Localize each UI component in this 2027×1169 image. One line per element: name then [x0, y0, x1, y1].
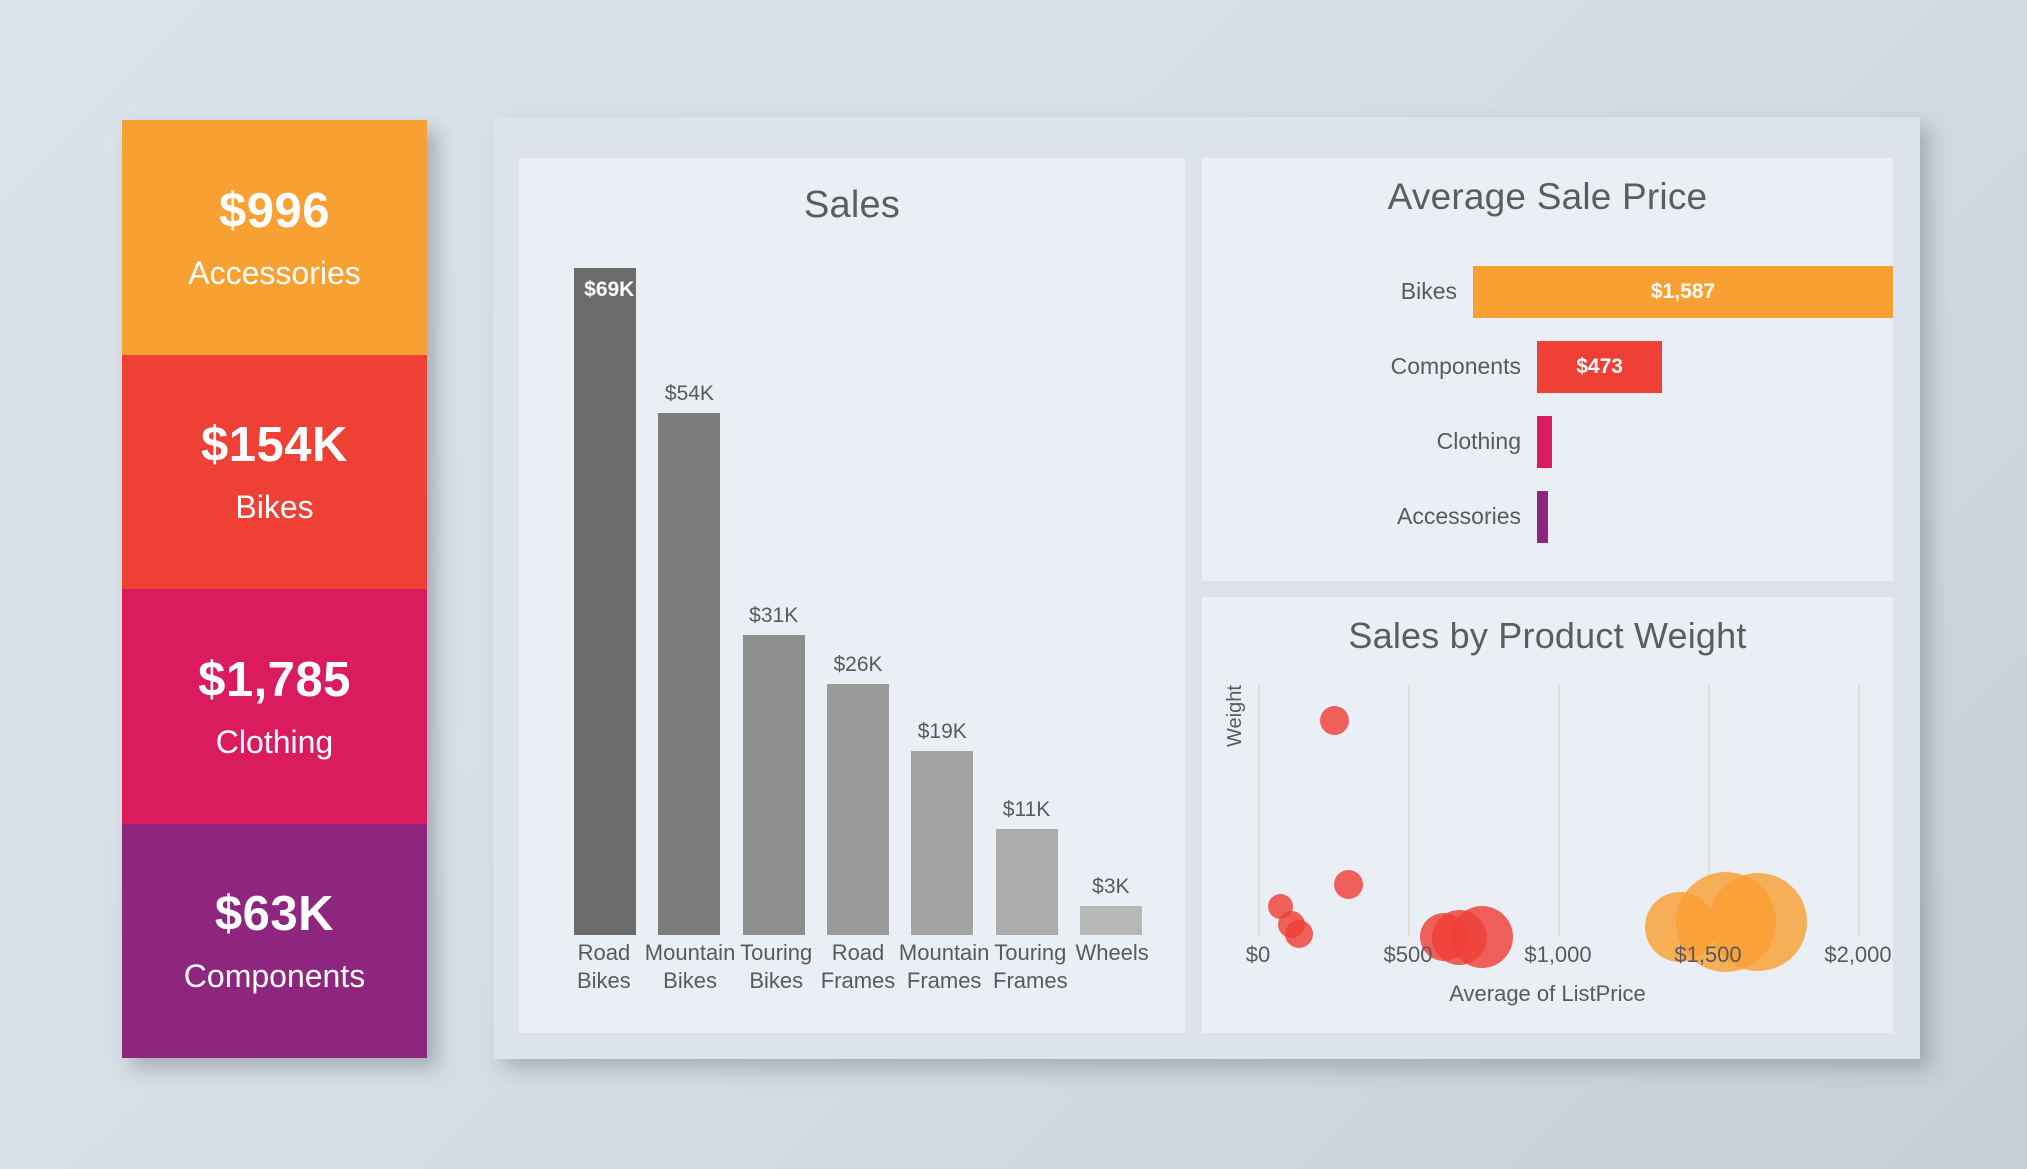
sales-bar[interactable]: $3K: [1080, 906, 1142, 935]
kpi-value: $1,785: [198, 655, 351, 706]
sales-bar-slot: $11K: [984, 268, 1068, 935]
gridline: [1408, 685, 1410, 937]
kpi-value: $996: [219, 186, 330, 237]
sales-bar-slot: $69K: [563, 268, 647, 935]
sales-plot-area: $69K$54K$31K$26K$19K$11K$3K: [563, 268, 1153, 935]
sales-bar[interactable]: $26K: [827, 684, 889, 935]
charts-panel: Sales $69K$54K$31K$26K$19K$11K$3K RoadBi…: [493, 117, 1920, 1059]
avg-price-bar[interactable]: $1,587: [1473, 266, 1893, 318]
sales-x-tick-label: MountainBikes: [645, 939, 736, 1009]
sales-bar-slot: $54K: [647, 268, 731, 935]
sales-bar[interactable]: $11K: [996, 829, 1058, 935]
weight-x-tick-label: $2,000: [1824, 942, 1891, 968]
weight-x-tick-label: $500: [1384, 942, 1433, 968]
weight-x-tick-label: $0: [1246, 942, 1270, 968]
weight-x-axis-label: Average of ListPrice: [1202, 981, 1893, 1007]
sales-bar-value-label: $19K: [918, 720, 967, 744]
avg-price-row: Accessories: [1202, 479, 1893, 554]
sales-bar[interactable]: $31K: [743, 635, 805, 935]
kpi-value: $154K: [201, 420, 348, 471]
sales-bar-slot: $26K: [816, 268, 900, 935]
avg-price-row: Components$473: [1202, 329, 1893, 404]
average-sale-price-card[interactable]: Average Sale Price Bikes$1,587Components…: [1202, 158, 1893, 581]
kpi-card-accessories[interactable]: $996Accessories: [122, 120, 427, 355]
sales-bar-value-label: $11K: [1003, 798, 1051, 822]
weight-x-tick-label: $1,000: [1524, 942, 1591, 968]
sales-x-tick-label: Wheels: [1071, 939, 1153, 1009]
kpi-value: $63K: [215, 889, 334, 940]
sales-bar[interactable]: $69K: [574, 268, 636, 935]
kpi-panel: $996Accessories$154KBikes$1,785Clothing$…: [122, 120, 427, 1058]
kpi-label: Accessories: [188, 257, 361, 289]
kpi-label: Clothing: [216, 726, 333, 758]
sales-bar[interactable]: $54K: [658, 413, 720, 935]
sales-bar-value-label: $69K: [584, 278, 634, 302]
sales-x-tick-label: RoadBikes: [563, 939, 645, 1009]
dashboard-root: $996Accessories$154KBikes$1,785Clothing$…: [0, 0, 2027, 1169]
sales-chart-title: Sales: [519, 158, 1185, 227]
sales-bar-value-label: $26K: [833, 653, 882, 677]
sales-by-product-weight-title: Sales by Product Weight: [1202, 597, 1893, 657]
avg-price-bar[interactable]: $473: [1537, 341, 1662, 393]
avg-price-category-label: Components: [1202, 353, 1537, 380]
sales-bar-value-label: $54K: [665, 382, 714, 406]
average-sale-price-plot: Bikes$1,587Components$473ClothingAccesso…: [1202, 254, 1893, 554]
sales-x-tick-label: TouringFrames: [989, 939, 1071, 1009]
sales-bar-value-label: $3K: [1092, 875, 1129, 899]
scatter-bubble[interactable]: [1334, 870, 1363, 899]
gridline: [1258, 685, 1260, 937]
avg-price-bar-track: $1,587: [1473, 254, 1893, 329]
gridline: [1858, 685, 1860, 937]
avg-price-bar-track: $473: [1537, 329, 1893, 404]
kpi-card-clothing[interactable]: $1,785Clothing: [122, 589, 427, 824]
avg-price-bar[interactable]: [1537, 491, 1548, 543]
sales-x-tick-label: RoadFrames: [817, 939, 899, 1009]
sales-chart-card[interactable]: Sales $69K$54K$31K$26K$19K$11K$3K RoadBi…: [519, 158, 1185, 1033]
weight-x-tick-label: $1,500: [1674, 942, 1741, 968]
kpi-card-components[interactable]: $63KComponents: [122, 824, 427, 1059]
sales-bar-slot: $19K: [900, 268, 984, 935]
weight-plot-area: [1258, 685, 1858, 937]
sales-by-product-weight-card[interactable]: Sales by Product Weight Weight $0$500$1,…: [1202, 597, 1893, 1033]
scatter-bubble[interactable]: [1320, 706, 1349, 735]
avg-price-category-label: Clothing: [1202, 428, 1537, 455]
avg-price-bar[interactable]: [1537, 416, 1552, 468]
sales-bar-slot: $31K: [732, 268, 816, 935]
gridline: [1558, 685, 1560, 937]
avg-price-category-label: Accessories: [1202, 503, 1537, 530]
sales-bar-value-label: $31K: [749, 604, 798, 628]
sales-x-tick-label: TouringBikes: [735, 939, 817, 1009]
sales-bar-slot: $3K: [1069, 268, 1153, 935]
avg-price-bar-track: [1537, 404, 1893, 479]
avg-price-category-label: Bikes: [1202, 278, 1473, 305]
sales-x-axis: RoadBikesMountainBikesTouringBikesRoadFr…: [563, 939, 1153, 1009]
avg-price-row: Clothing: [1202, 404, 1893, 479]
weight-y-axis-label: Weight: [1224, 685, 1247, 747]
avg-price-row: Bikes$1,587: [1202, 254, 1893, 329]
sales-bar[interactable]: $19K: [911, 751, 973, 935]
avg-price-value-label: $1,587: [1651, 280, 1715, 304]
sales-x-tick-label: MountainFrames: [899, 939, 990, 1009]
avg-price-value-label: $473: [1576, 355, 1623, 379]
average-sale-price-title: Average Sale Price: [1202, 158, 1893, 218]
weight-x-ticks: $0$500$1,000$1,500$2,000: [1258, 942, 1858, 972]
kpi-label: Bikes: [235, 491, 313, 523]
kpi-label: Components: [184, 960, 365, 992]
kpi-card-bikes[interactable]: $154KBikes: [122, 355, 427, 590]
avg-price-bar-track: [1537, 479, 1893, 554]
